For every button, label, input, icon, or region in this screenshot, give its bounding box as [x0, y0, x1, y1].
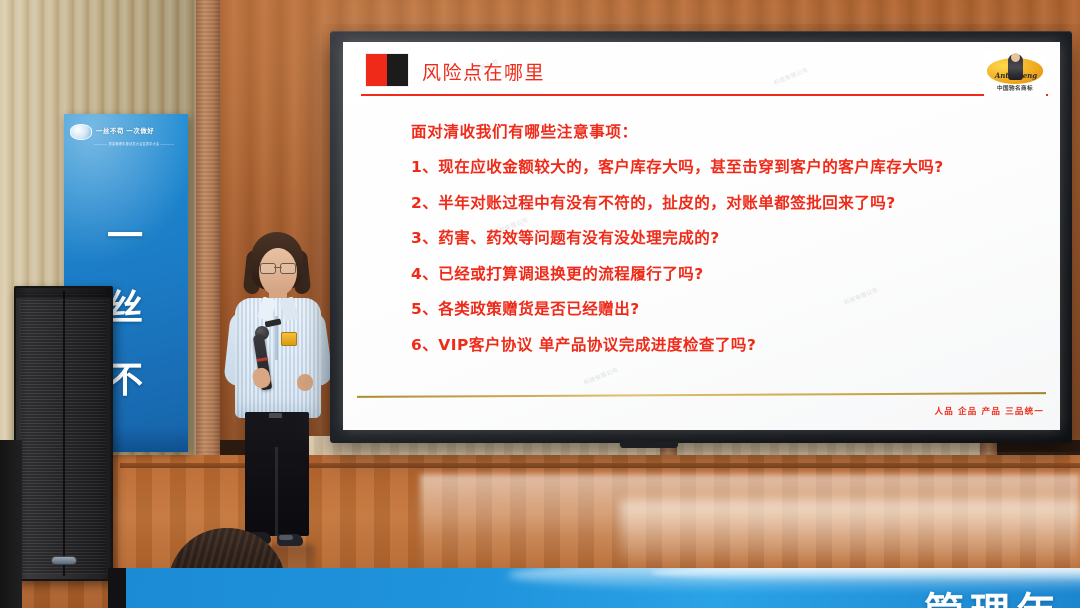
- presentation-slide: 科技有限公司 科技有限公司 科技有限公司 科技有限公司 科技有限公司 科技有限公…: [343, 42, 1060, 430]
- slide-title: 风险点在哪里: [422, 58, 545, 85]
- screen-mount-bracket: [620, 441, 678, 448]
- presentation-photo: 一丝不苟 一次做好 ———— 质量管理年度动员大会暨表彰大会 ———— 一 丝 …: [0, 0, 1080, 608]
- list-item: 4、 已经或打算调退换更的流程履行了吗?: [411, 262, 1036, 284]
- shoe-highlight: [279, 535, 293, 540]
- polo-shirt: [235, 298, 321, 418]
- bullet-text: VIP客户协议 单产品协议完成进度检查了吗?: [438, 333, 756, 355]
- bullet-number: 4、: [411, 262, 438, 284]
- right-hand: [297, 374, 313, 391]
- screen-surface: 科技有限公司 科技有限公司 科技有限公司 科技有限公司 科技有限公司 科技有限公…: [343, 42, 1060, 430]
- watermark: 科技有限公司: [773, 66, 809, 87]
- banner-subtitle: ———— 质量管理年度动员大会暨表彰大会 ————: [94, 141, 182, 146]
- slide-footer-text: 人品 企品 产品 三品统一: [935, 405, 1044, 417]
- brand-logo: Antusheng 中国驰名商标: [984, 52, 1046, 96]
- slide-lead-text: 面对清收我们有哪些注意事项：: [411, 120, 1036, 142]
- bullet-number: 1、: [411, 155, 438, 177]
- bullet-number: 2、: [411, 191, 438, 213]
- list-item: 1、 现在应收金额较大的，客户库存大吗，甚至击穿到客户的客户库存大吗?: [411, 155, 1036, 177]
- bullet-number: 6、: [411, 333, 438, 355]
- banner-slogan: 一丝不苟 一次做好: [96, 128, 154, 136]
- foreground-dark-object: [0, 440, 22, 608]
- list-item: 3、 药害、药效等问题有没有没处理完成的?: [411, 226, 1036, 248]
- company-logo-icon: [70, 124, 92, 140]
- bullet-text: 半年对账过程中有没有不符的，扯皮的，对账单都签批回来了吗?: [438, 191, 896, 213]
- speaker-brand-badge: [51, 556, 77, 565]
- glasses-icon: [260, 263, 296, 272]
- bullet-text: 各类政策赠货是否已经赠出?: [438, 297, 640, 319]
- list-item: 5、 各类政策赠货是否已经赠出?: [411, 297, 1036, 319]
- stage-front-banner: 管理年: [126, 568, 1080, 608]
- bullet-text: 现在应收金额较大的，客户库存大吗，甚至击穿到客户的客户库存大吗?: [438, 155, 944, 177]
- speaker-seam: [63, 291, 65, 576]
- title-underline: [361, 94, 1048, 96]
- banner-char-1: 一: [64, 200, 188, 272]
- logo-figure-head: [1011, 53, 1020, 62]
- slide-gold-divider: [357, 392, 1046, 398]
- bullet-text: 药害、药效等问题有没有没处理完成的?: [438, 226, 720, 248]
- bullet-number: 3、: [411, 226, 438, 248]
- banner-header: 一丝不苟 一次做好: [70, 124, 184, 140]
- bullet-text: 已经或打算调退换更的流程履行了吗?: [438, 262, 704, 284]
- trouser-seam: [275, 447, 278, 537]
- loudspeaker: [14, 286, 113, 581]
- logo-subtitle-text: 中国驰名商标: [986, 84, 1044, 94]
- glasses-bridge: [274, 267, 282, 268]
- slide-body: 面对清收我们有哪些注意事项： 1、 现在应收金额较大的，客户库存大吗，甚至击穿到…: [411, 120, 1036, 368]
- title-mark-red-block: [366, 54, 387, 86]
- bottom-banner-text: 管理年: [924, 580, 1062, 608]
- speaker-top-shadow: [16, 288, 111, 298]
- company-badge: [281, 332, 297, 346]
- watermark: 科技有限公司: [583, 366, 619, 387]
- floor-highlight: [620, 500, 1080, 570]
- title-accent-mark: [366, 54, 408, 86]
- logo-script-text: Antusheng: [990, 71, 1042, 80]
- led-display-screen: 科技有限公司 科技有限公司 科技有限公司 科技有限公司 科技有限公司 科技有限公…: [330, 31, 1072, 443]
- bullet-number: 5、: [411, 297, 438, 319]
- list-item: 2、 半年对账过程中有没有不符的，扯皮的，对账单都签批回来了吗?: [411, 191, 1036, 213]
- title-mark-black-block: [387, 54, 408, 86]
- banner-left-occluder: [108, 568, 126, 608]
- list-item: 6、 VIP客户协议 单产品协议完成进度检查了吗?: [411, 333, 1036, 355]
